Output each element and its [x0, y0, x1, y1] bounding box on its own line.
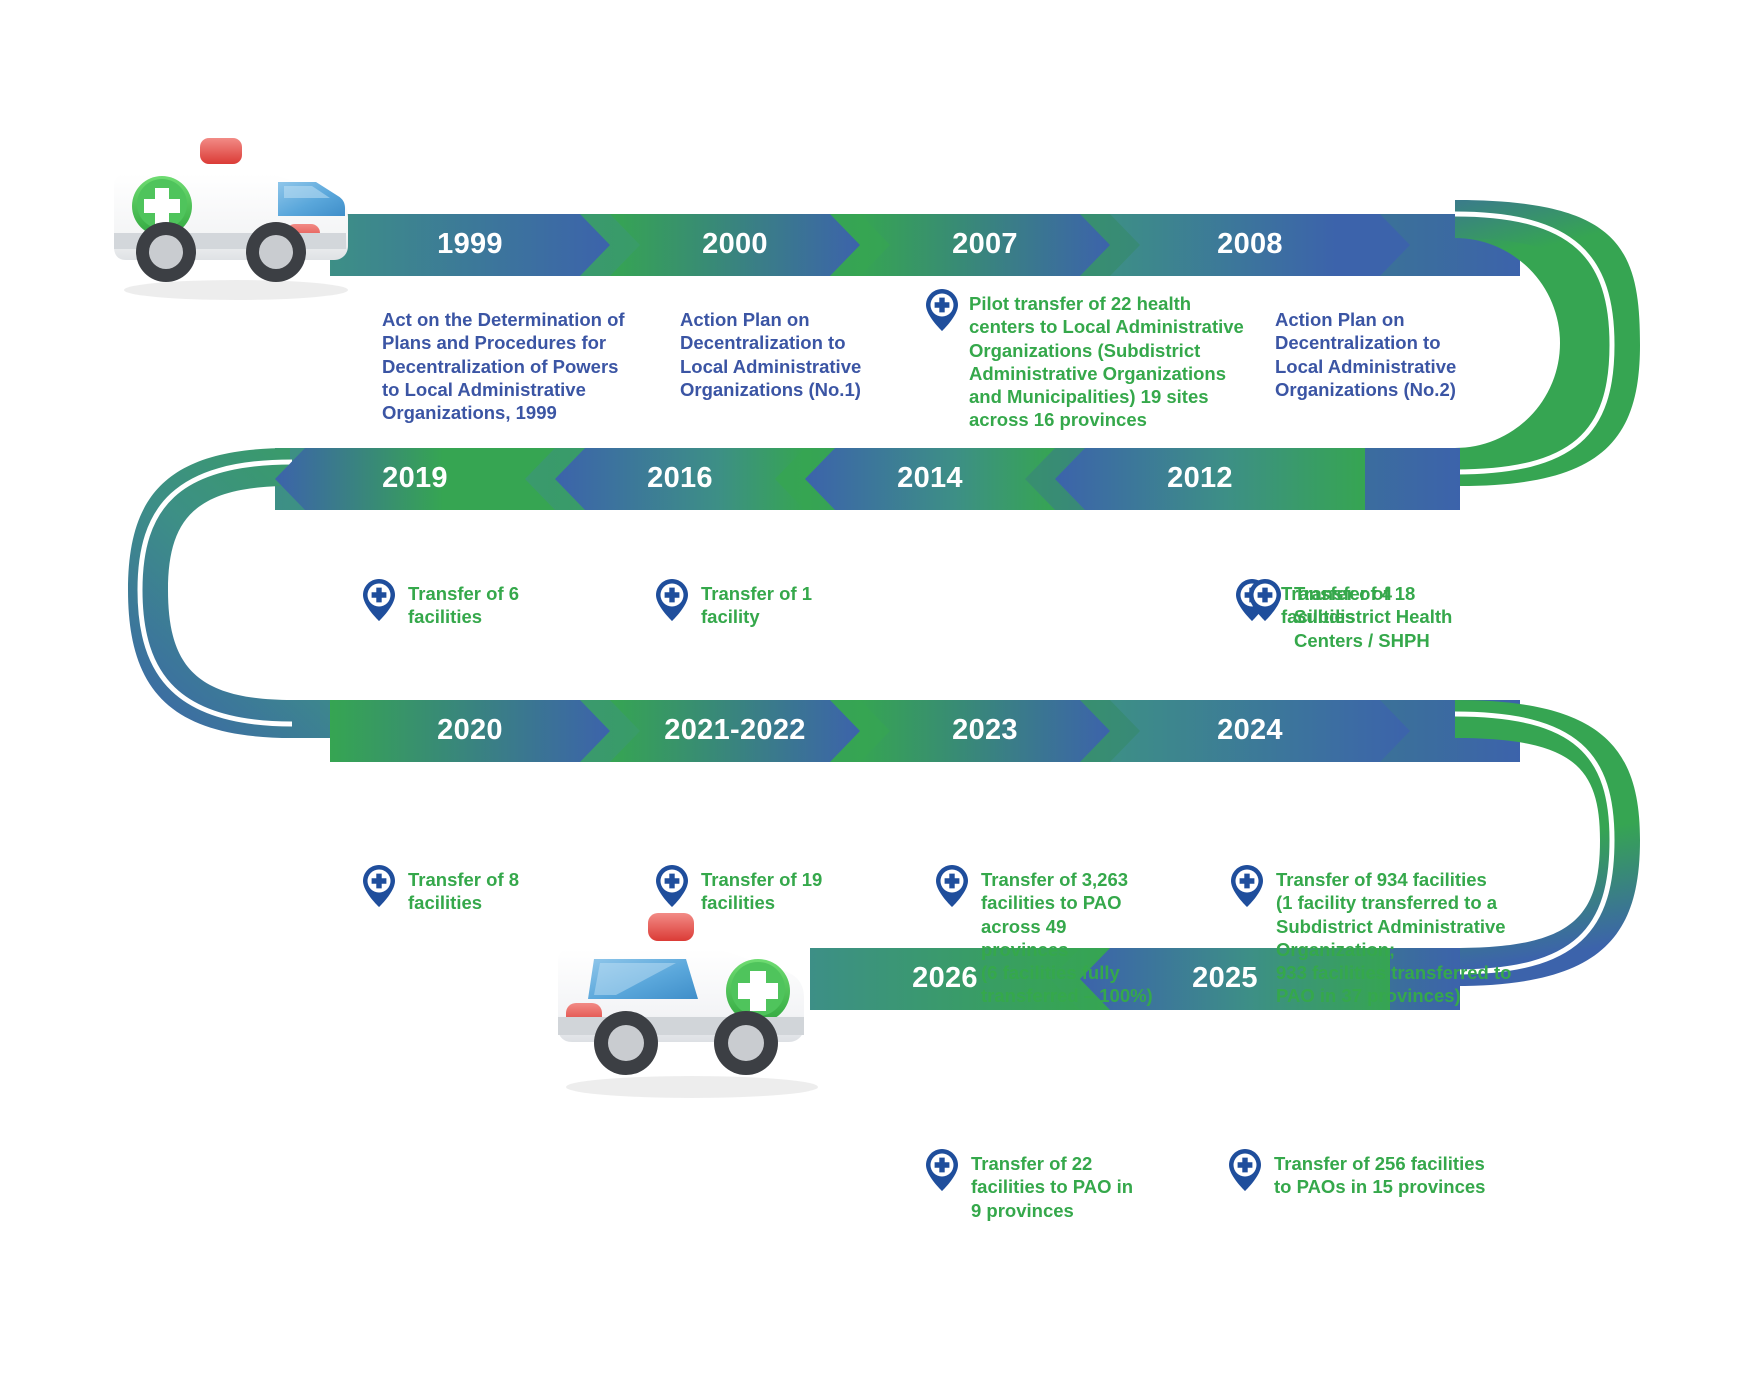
entry-text: Transfer of 256 facilities to PAOs in 15… — [1268, 1152, 1485, 1199]
map-pin-icon — [655, 578, 689, 622]
year-label-1999: 1999 — [330, 214, 610, 276]
year-text: 2021-2022 — [664, 714, 805, 747]
entry-2026: Transfer of 22 facilities to PAO in 9 pr… — [925, 1152, 1145, 1222]
year-label-2020: 2020 — [330, 700, 610, 762]
entry-text: Transfer of 6 facilities — [402, 582, 519, 629]
map-pin-icon — [935, 864, 969, 908]
year-text: 2020 — [437, 714, 503, 747]
map-pin-icon — [925, 1148, 959, 1192]
map-pin-icon — [1248, 578, 1282, 622]
entry-2025: Transfer of 256 facilities to PAOs in 15… — [1228, 1152, 1518, 1199]
map-pin-icon — [925, 288, 959, 332]
year-label-2019: 2019 — [275, 448, 555, 510]
entry-2020: Transfer of 8 facilities — [362, 868, 552, 915]
timeline-infographic: 1999 2000 2007 2008 2019 — [0, 0, 1748, 1378]
entry-text: Transfer of 18 Subdistrict Health Center… — [1288, 582, 1452, 652]
entry-1999: Act on the Determination of Plans and Pr… — [382, 308, 652, 424]
year-label-2023: 2023 — [860, 700, 1110, 762]
map-pin-icon — [655, 864, 689, 908]
ambulance-icon-top — [108, 128, 358, 303]
year-label-2000: 2000 — [610, 214, 860, 276]
year-label-2021-2022: 2021-2022 — [610, 700, 860, 762]
entry-2012: Transfer of 18 Subdistrict Health Center… — [1248, 582, 1458, 652]
year-label-2012: 2012 — [1055, 448, 1345, 510]
year-text: 2023 — [952, 714, 1018, 747]
year-text: 2000 — [702, 228, 768, 261]
entry-text: Transfer of 22 facilities to PAO in 9 pr… — [965, 1152, 1133, 1222]
year-text: 2014 — [897, 462, 963, 495]
map-pin-icon — [362, 578, 396, 622]
entry-text: Transfer of 934 facilities (1 facility t… — [1270, 868, 1511, 1008]
year-text: 1999 — [437, 228, 503, 261]
entry-2000: Action Plan on Decentralization to Local… — [680, 308, 910, 401]
year-label-2014: 2014 — [805, 448, 1055, 510]
entry-text: Transfer of 1 facility — [695, 582, 812, 629]
year-label-2024: 2024 — [1110, 700, 1390, 762]
year-label-2016: 2016 — [555, 448, 805, 510]
year-text: 2019 — [382, 462, 448, 495]
year-text: 2007 — [952, 228, 1018, 261]
entry-text: Pilot transfer of 22 health centers to L… — [965, 292, 1244, 432]
map-pin-icon — [1230, 864, 1264, 908]
ambulance-icon-bottom — [550, 905, 830, 1100]
year-label-2007: 2007 — [860, 214, 1110, 276]
entry-2016: Transfer of 1 facility — [655, 582, 845, 629]
entry-2024: Transfer of 934 facilities (1 facility t… — [1230, 868, 1520, 1008]
year-text: 2016 — [647, 462, 713, 495]
entry-2019: Transfer of 6 facilities — [362, 582, 552, 629]
entry-2023: Transfer of 3,263 facilities to PAO acro… — [935, 868, 1155, 1008]
map-pin-icon — [1228, 1148, 1262, 1192]
entry-text: Action Plan on Decentralization to Local… — [680, 308, 861, 401]
entry-2007: Pilot transfer of 22 health centers to L… — [925, 292, 1265, 432]
entry-text: Act on the Determination of Plans and Pr… — [382, 308, 625, 424]
year-text: 2024 — [1217, 714, 1283, 747]
entry-2008: Action Plan on Decentralization to Local… — [1275, 308, 1515, 401]
year-label-2008: 2008 — [1110, 214, 1390, 276]
year-text: 2012 — [1167, 462, 1233, 495]
year-text: 2008 — [1217, 228, 1283, 261]
entry-text: Transfer of 8 facilities — [402, 868, 519, 915]
map-pin-icon — [362, 864, 396, 908]
entry-text: Transfer of 3,263 facilities to PAO acro… — [975, 868, 1155, 1008]
entry-text: Action Plan on Decentralization to Local… — [1275, 308, 1456, 401]
